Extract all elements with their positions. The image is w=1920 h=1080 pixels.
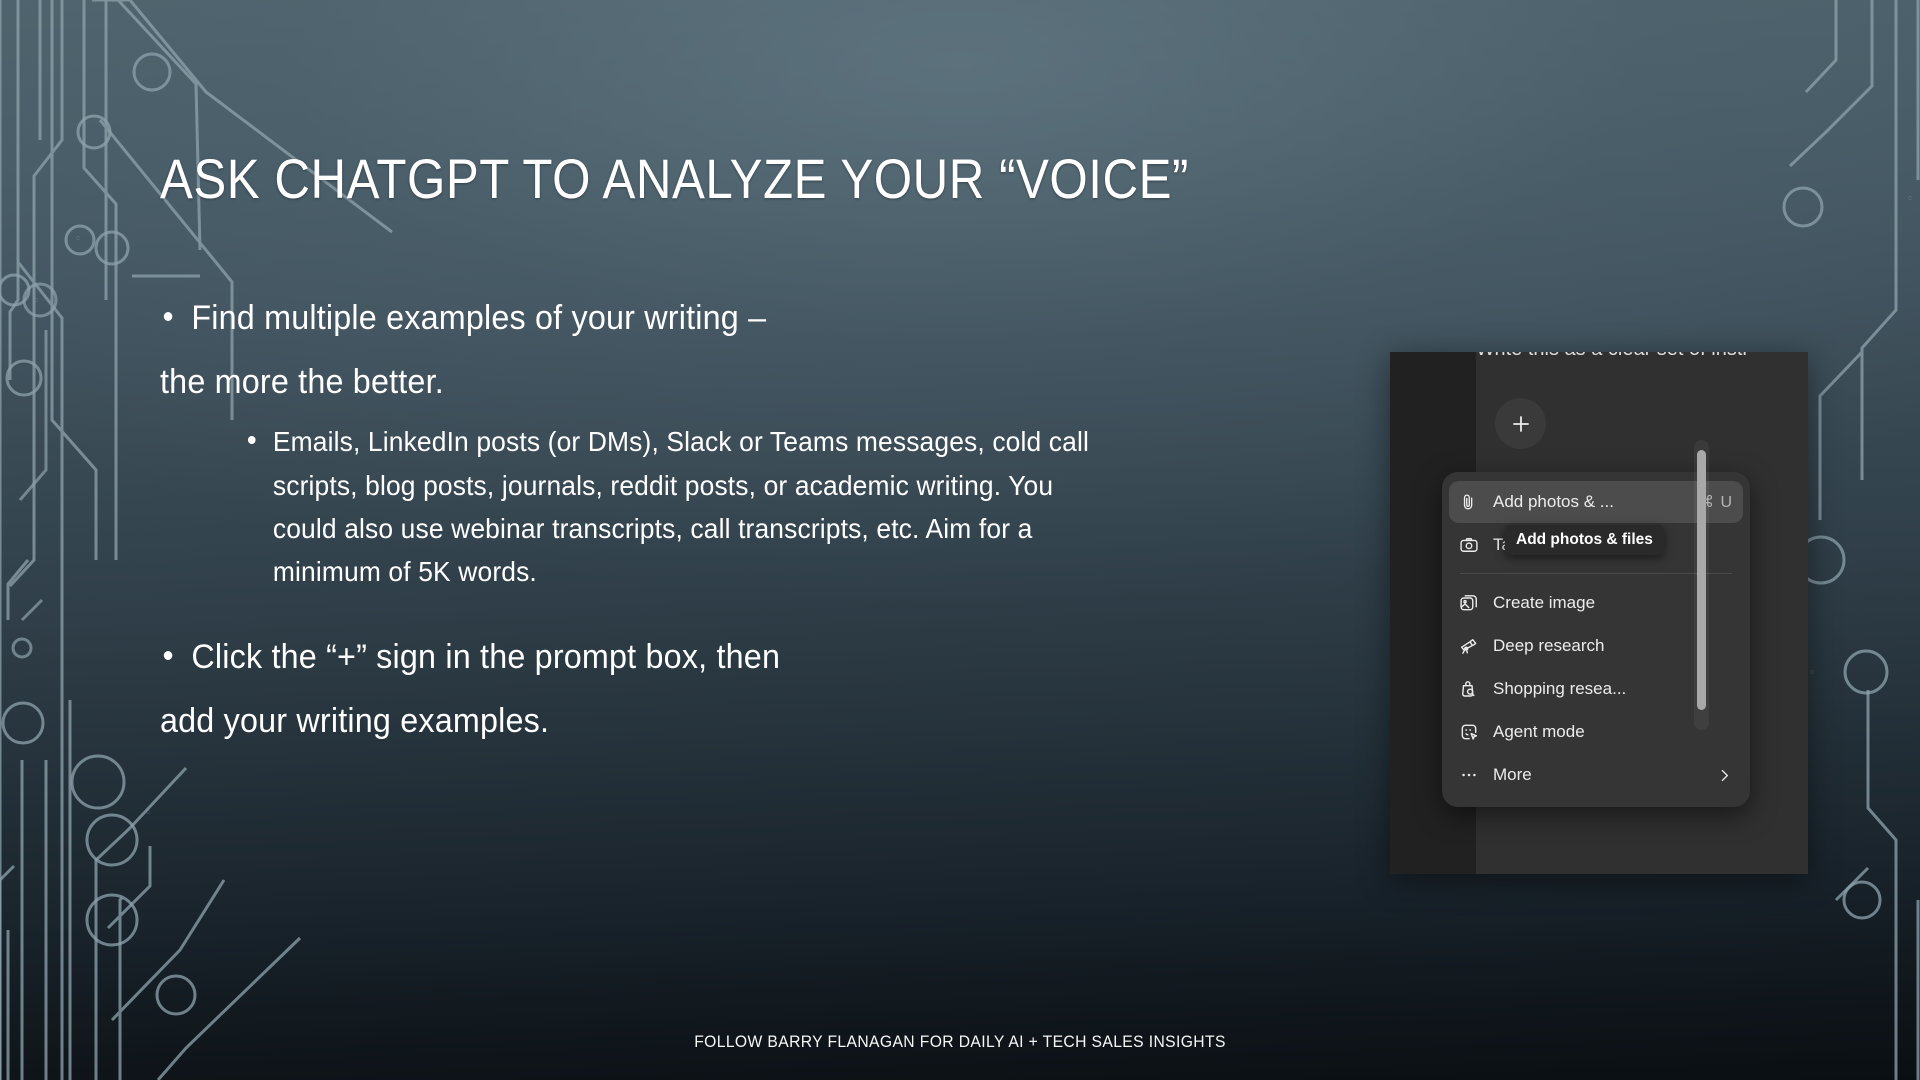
page-title: ASK CHATGPT TO ANALYZE YOUR “VOICE” (160, 150, 1304, 209)
image-icon (1459, 592, 1485, 614)
paperclip-icon (1459, 491, 1485, 513)
menu-divider (1460, 573, 1732, 574)
bullet-continuation: the more the better. (160, 360, 1110, 404)
plus-icon (1509, 412, 1533, 436)
tooltip-add-photos-files: Add photos & files (1505, 525, 1664, 555)
agent-cursor-icon (1459, 721, 1485, 743)
title-block: ASK CHATGPT TO ANALYZE YOUR “VOICE” (160, 150, 1460, 209)
presentation-slide: ASK CHATGPT TO ANALYZE YOUR “VOICE” Find… (0, 0, 1920, 1080)
body-content: Find multiple examples of your writing –… (160, 296, 1160, 743)
chatgpt-screenshot-overlay: Write this as a clear set of instr Add p… (1390, 352, 1808, 874)
partial-prompt-text: Write this as a clear set of instr (1476, 352, 1808, 361)
bullet-level1-1: Find multiple examples of your writing –… (160, 296, 1110, 404)
shopping-bag-search-icon (1459, 678, 1485, 700)
spacer (160, 593, 1160, 635)
bullet-level2-1: Emails, LinkedIn posts (or DMs), Slack o… (246, 420, 1123, 593)
menu-item-label: Agent mode (1493, 722, 1585, 742)
camera-icon (1459, 534, 1485, 556)
bullet-text: Find multiple examples of your writing – (191, 299, 766, 337)
telescope-icon (1459, 635, 1485, 657)
bullet-continuation: add your writing examples. (160, 699, 1110, 743)
bullet-text: Click the “+” sign in the prompt box, th… (191, 638, 780, 676)
bullet-dot-icon (164, 651, 173, 660)
bullet-dot-icon (164, 312, 173, 321)
slide-footer: FOLLOW BARRY FLANAGAN FOR DAILY AI + TEC… (48, 1033, 1872, 1052)
menu-item-label: Deep research (1493, 636, 1605, 656)
bullet-level1-2: Click the “+” sign in the prompt box, th… (160, 635, 1110, 743)
add-attachment-button[interactable] (1495, 398, 1546, 449)
menu-scrollbar-thumb[interactable] (1697, 450, 1706, 710)
chevron-right-icon (1716, 767, 1733, 784)
menu-item-label: Create image (1493, 593, 1595, 613)
menu-item-label: Shopping resea... (1493, 679, 1626, 699)
menu-item-label: Add photos & ... (1493, 492, 1614, 512)
menu-item-more[interactable]: More (1449, 754, 1743, 796)
menu-item-label: More (1493, 765, 1532, 785)
bullet-text: Emails, LinkedIn posts (or DMs), Slack o… (273, 426, 1089, 587)
sub-bullet-group: Emails, LinkedIn posts (or DMs), Slack o… (246, 420, 1160, 593)
ellipsis-icon (1459, 764, 1485, 786)
bullet-dot-icon (248, 436, 256, 444)
